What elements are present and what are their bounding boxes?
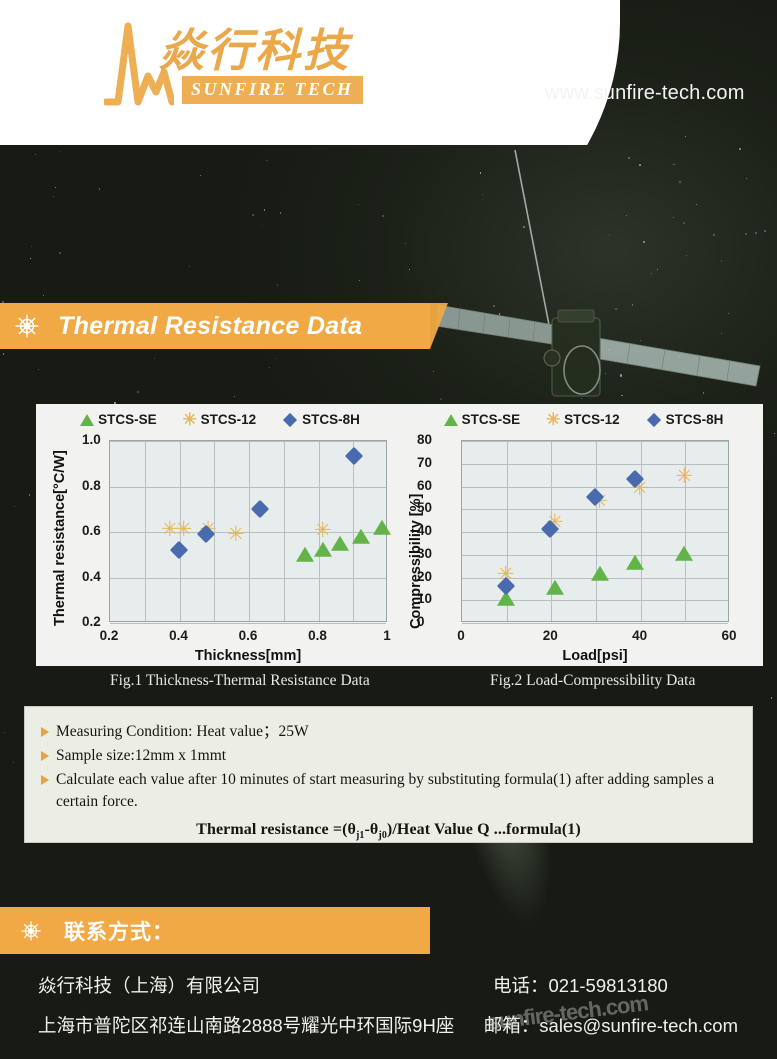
- gridline-vertical: [284, 441, 285, 621]
- y-axis-title: Compressibility [%]: [408, 494, 424, 629]
- gridline-horizontal: [462, 441, 728, 442]
- phone-number: 电话：021-59813180: [493, 972, 668, 998]
- y-tick-label: 80: [417, 432, 453, 447]
- website-url[interactable]: www.sunfire-tech.com: [545, 82, 745, 105]
- figure-1-caption: Fig.1 Thickness-Thermal Resistance Data: [110, 672, 370, 690]
- page-header: 焱行科技 SUNFIRE TECH www.sunfire-tech.com: [0, 0, 777, 145]
- gridline-horizontal: [110, 623, 386, 624]
- x-axis-title: Thickness[mm]: [195, 648, 301, 664]
- note-item: Sample size:12mm x 1mmt: [41, 745, 736, 767]
- y-tick-label: 1.0: [82, 432, 101, 447]
- gridline-vertical: [596, 441, 597, 621]
- x-tick-label: 60: [721, 628, 736, 643]
- contact-title: 联系方式：: [64, 916, 174, 946]
- legend-label: STCS-8H: [666, 412, 724, 427]
- gridline-vertical: [145, 441, 146, 621]
- gridline-horizontal: [462, 623, 728, 624]
- satellite-illustration: [430, 130, 777, 415]
- data-point-star: ✳: [174, 519, 194, 539]
- formula-mid: -θ: [365, 821, 379, 838]
- data-point-triangle: [373, 519, 391, 534]
- y-tick-label: 70: [417, 455, 453, 470]
- contact-row: 上海市普陀区祁连山南路2888号耀光中环国际9H座 邮箱：sales@sunfi…: [38, 1012, 738, 1038]
- y-tick-label: 0.8: [82, 478, 101, 493]
- contact-row: 焱行科技（上海）有限公司 电话：021-59813180: [38, 972, 738, 998]
- x-tick-label: 40: [632, 628, 647, 643]
- email-address[interactable]: 邮箱：sales@sunfire-tech.com: [484, 1012, 738, 1038]
- legend-item-stcs-12: ✳STCS-12: [546, 412, 620, 427]
- chart-load-compressibility: STCS-SE✳STCS-12STCS-8H010203040506070800…: [404, 404, 763, 666]
- logo-english-text: SUNFIRE TECH: [182, 76, 363, 104]
- formula-sub-j1: j1: [356, 830, 365, 841]
- gridline-horizontal: [110, 441, 386, 442]
- ship-wheel-icon: [20, 920, 42, 942]
- company-logo: 焱行科技 SUNFIRE TECH: [104, 14, 359, 114]
- data-point-triangle: [331, 535, 349, 550]
- data-point-triangle: [675, 546, 693, 561]
- data-point-triangle: [546, 580, 564, 595]
- gridline-horizontal: [110, 578, 386, 579]
- y-tick-label: 0.6: [82, 523, 101, 538]
- legend-marker-star: ✳: [183, 413, 197, 427]
- contact-banner: 联系方式：: [0, 907, 430, 954]
- data-point-triangle: [591, 566, 609, 581]
- legend-item-stcs-8h: STCS-8H: [646, 412, 724, 427]
- section-banner: Thermal Resistance Data: [0, 303, 430, 349]
- chart-thickness-thermal-resistance: STCS-SE✳STCS-12STCS-8H0.20.40.60.81.00.2…: [36, 404, 404, 666]
- y-tick-label: 0.2: [82, 614, 101, 629]
- note-item: Measuring Condition: Heat value；25W: [41, 721, 736, 743]
- contact-details: 焱行科技（上海）有限公司 电话：021-59813180 上海市普陀区祁连山南路…: [38, 972, 738, 1052]
- data-point-star: ✳: [313, 520, 333, 540]
- triangle-bullet-icon: [41, 751, 49, 761]
- legend-marker-star: ✳: [546, 413, 560, 427]
- gridline-vertical: [249, 441, 250, 621]
- y-axis-title: Thermal resistance[°C/W]: [52, 450, 68, 626]
- legend-item-stcs-8h: STCS-8H: [282, 412, 360, 427]
- data-point-star: ✳: [226, 524, 246, 544]
- legend-label: STCS-12: [564, 412, 620, 427]
- formula-suffix: )/Heat Value Q ...formula(1): [387, 821, 581, 838]
- x-tick-label: 0: [457, 628, 465, 643]
- figure-2-caption: Fig.2 Load-Compressibility Data: [490, 672, 695, 690]
- logo-chinese-text: 焱行科技: [159, 14, 351, 79]
- triangle-bullet-icon: [41, 775, 49, 785]
- x-axis-title: Load[psi]: [562, 648, 627, 664]
- note-text: Calculate each value after 10 minutes of…: [56, 769, 736, 813]
- formula-prefix: Thermal resistance =(θ: [196, 821, 356, 838]
- legend-item-stcs-12: ✳STCS-12: [183, 412, 257, 427]
- y-tick-label: 0.4: [82, 569, 101, 584]
- legend-marker-triangle: [444, 414, 458, 426]
- section-title: Thermal Resistance Data: [58, 312, 362, 341]
- company-name: 焱行科技（上海）有限公司: [38, 972, 493, 998]
- x-tick-label: 0.8: [308, 628, 327, 643]
- gridline-horizontal: [110, 532, 386, 533]
- chart-legend: STCS-SE✳STCS-12STCS-8H: [36, 412, 404, 427]
- gridline-horizontal: [110, 487, 386, 488]
- plot-area: [109, 440, 387, 622]
- x-tick-label: 0.2: [100, 628, 119, 643]
- legend-label: STCS-SE: [462, 412, 521, 427]
- legend-marker-diamond: [647, 412, 661, 426]
- x-tick-label: 0.4: [169, 628, 188, 643]
- data-point-triangle: [352, 528, 370, 543]
- charts-panel: STCS-SE✳STCS-12STCS-8H0.20.40.60.81.00.2…: [36, 404, 763, 666]
- x-tick-label: 0.6: [239, 628, 258, 643]
- note-text: Measuring Condition: Heat value；25W: [56, 721, 736, 743]
- measuring-conditions-box: Measuring Condition: Heat value；25W Samp…: [24, 706, 753, 843]
- data-point-triangle: [626, 555, 644, 570]
- data-point-star: ✳: [674, 466, 694, 486]
- y-tick-label: 60: [417, 478, 453, 493]
- legend-item-stcs-se: STCS-SE: [444, 412, 521, 427]
- formula-sub-j0: j0: [378, 830, 387, 841]
- triangle-bullet-icon: [41, 727, 49, 737]
- x-tick-label: 1: [383, 628, 391, 643]
- legend-label: STCS-SE: [98, 412, 157, 427]
- banner-tail: [430, 303, 448, 349]
- gridline-vertical: [641, 441, 642, 621]
- ship-wheel-icon: [14, 313, 40, 339]
- formula-line: Thermal resistance =(θj1-θj0)/Heat Value…: [41, 821, 736, 841]
- note-item: Calculate each value after 10 minutes of…: [41, 769, 736, 813]
- x-tick-label: 20: [543, 628, 558, 643]
- legend-marker-triangle: [80, 414, 94, 426]
- legend-item-stcs-se: STCS-SE: [80, 412, 157, 427]
- chart-legend: STCS-SE✳STCS-12STCS-8H: [404, 412, 763, 427]
- data-point-triangle: [296, 547, 314, 562]
- legend-marker-diamond: [283, 412, 297, 426]
- legend-label: STCS-8H: [302, 412, 360, 427]
- brochure-page: 焱行科技 SUNFIRE TECH www.sunfire-tech.com T…: [0, 0, 777, 1059]
- legend-label: STCS-12: [201, 412, 257, 427]
- gridline-horizontal: [462, 532, 728, 533]
- company-address: 上海市普陀区祁连山南路2888号耀光中环国际9H座: [38, 1012, 484, 1038]
- note-text: Sample size:12mm x 1mmt: [56, 745, 736, 767]
- data-point-triangle: [314, 542, 332, 557]
